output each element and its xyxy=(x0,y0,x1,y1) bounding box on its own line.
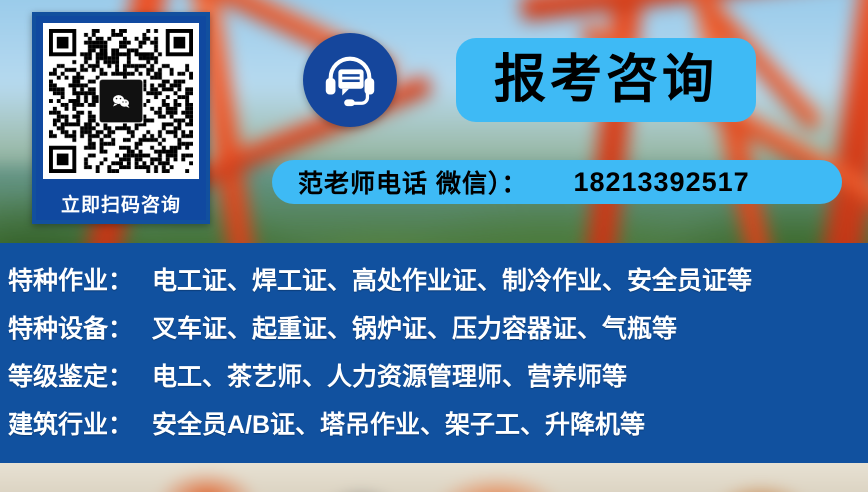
info-row: 特种作业： 电工证、焊工证、高处作业证、制冷作业、安全员证等 xyxy=(8,261,868,309)
info-row-category: 等级鉴定： xyxy=(8,357,152,393)
info-row-category: 建筑行业： xyxy=(8,405,152,441)
promo-poster: 立即扫码咨询 报考咨询 范老师电话 微信）： 18213392517 特种作业：… xyxy=(0,0,868,492)
phone-pill-label: 范老师电话 微信）： xyxy=(298,164,527,200)
bottom-photo-strip xyxy=(0,463,868,492)
info-row-items: 电工证、焊工证、高处作业证、制冷作业、安全员证等 xyxy=(152,261,752,297)
info-row: 建筑行业： 安全员A/B证、塔吊作业、架子工、升降机等 xyxy=(8,405,868,453)
title-pill: 报考咨询 xyxy=(456,38,756,122)
qr-card-label: 立即扫码咨询 xyxy=(36,196,206,215)
bottom-photo-layer xyxy=(0,463,868,492)
info-panel: 特种作业： 电工证、焊工证、高处作业证、制冷作业、安全员证等 特种设备： 叉车证… xyxy=(0,243,868,463)
phone-pill[interactable]: 范老师电话 微信）： 18213392517 xyxy=(272,160,842,204)
qr-card[interactable]: 立即扫码咨询 xyxy=(32,12,210,224)
info-row-items: 电工、茶艺师、人力资源管理师、营养师等 xyxy=(152,357,627,393)
headset-chat-icon xyxy=(303,33,397,127)
info-row-items: 叉车证、起重证、锅炉证、压力容器证、气瓶等 xyxy=(152,309,677,345)
qr-code-area[interactable] xyxy=(43,23,199,179)
info-row-category: 特种设备： xyxy=(8,309,152,345)
info-row: 特种设备： 叉车证、起重证、锅炉证、压力容器证、气瓶等 xyxy=(8,309,868,357)
title-pill-text: 报考咨询 xyxy=(494,54,718,106)
info-row-category: 特种作业： xyxy=(8,261,152,297)
info-row-items: 安全员A/B证、塔吊作业、架子工、升降机等 xyxy=(152,405,645,441)
phone-number[interactable]: 18213392517 xyxy=(573,167,749,198)
qr-code-icon[interactable] xyxy=(49,29,193,173)
info-row: 等级鉴定： 电工、茶艺师、人力资源管理师、营养师等 xyxy=(8,357,868,405)
